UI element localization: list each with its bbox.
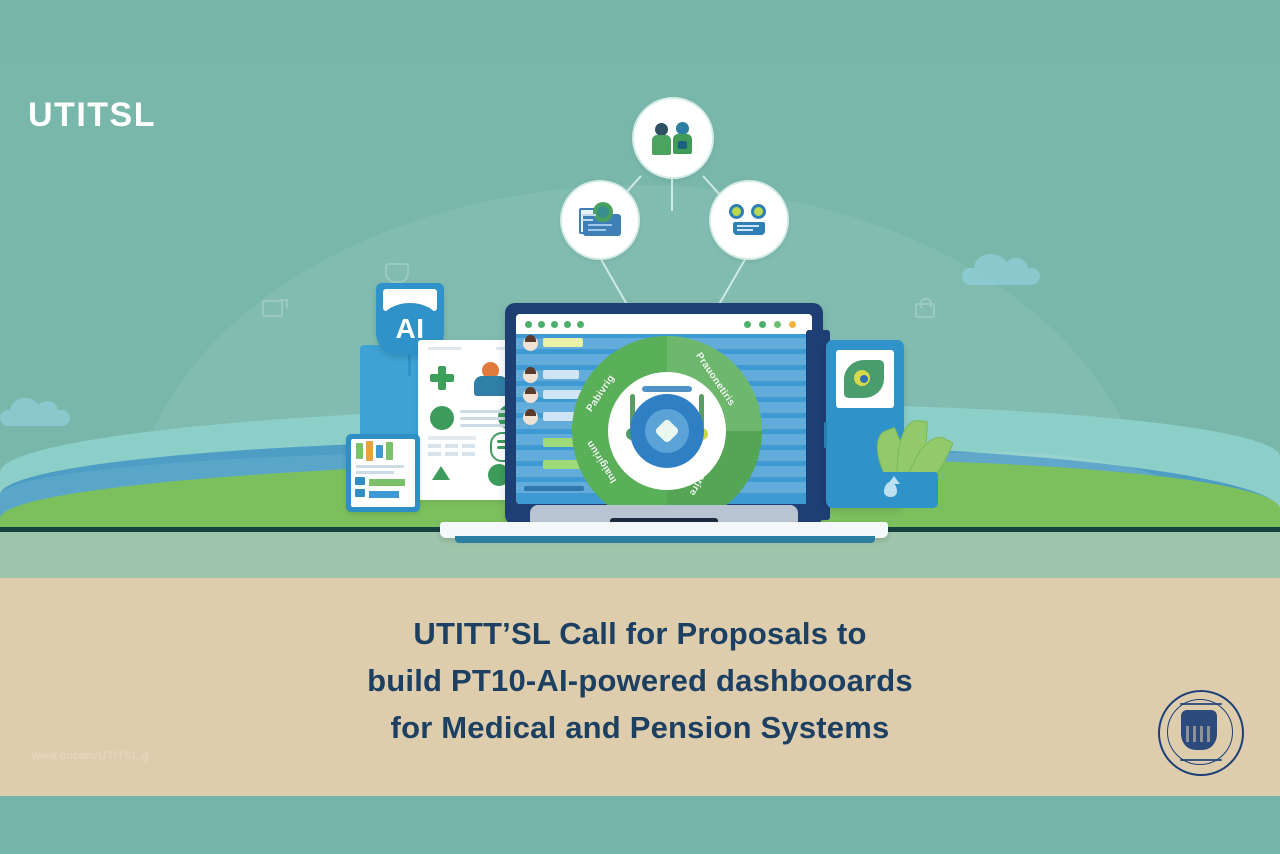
chrome-dot-right-4[interactable] <box>789 321 796 328</box>
chrome-dot-right-1[interactable] <box>744 321 751 328</box>
faint-shield-icon <box>385 263 409 283</box>
watermark-url: www.oncom/UTITSL.g <box>32 750 149 762</box>
chrome-dot-right-2[interactable] <box>759 321 766 328</box>
headline-line-3: for Medical and Pension Systems <box>0 704 1280 751</box>
chrome-dot-left-5[interactable] <box>577 321 584 328</box>
chrome-dot-left-4[interactable] <box>564 321 571 328</box>
hub-arm-top <box>642 386 692 392</box>
diagram-center-hub <box>608 372 726 490</box>
headline: UTITT’SL Call for Proposals to build PT1… <box>0 610 1280 751</box>
phone-screen <box>836 350 894 408</box>
illustration-scene: AI <box>0 0 1280 578</box>
diagram-core <box>630 394 704 468</box>
medical-staff-people-icon <box>651 121 695 155</box>
list-avatar <box>523 388 538 403</box>
chart-blob-1 <box>430 406 454 430</box>
scene-top-band <box>0 0 1280 60</box>
chrome-dot-left-2[interactable] <box>538 321 545 328</box>
chrome-dot-right-3[interactable] <box>774 321 781 328</box>
connector-line-center <box>671 175 673 211</box>
browser-chrome-bar <box>516 314 812 334</box>
list-avatar <box>523 336 538 351</box>
data-network-icon <box>729 202 769 238</box>
faint-lock-icon <box>915 303 935 318</box>
water-drop-icon <box>884 482 897 497</box>
phone-globe-core <box>860 375 868 383</box>
government-emblem <box>1158 690 1244 776</box>
title-banner: UTITT’SL Call for Proposals to build PT1… <box>0 578 1280 796</box>
card-mini-table <box>428 436 478 462</box>
ai-badge-label: AI <box>396 315 425 343</box>
node-medical-staff[interactable] <box>632 97 714 179</box>
faint-screen-icon <box>262 300 283 317</box>
medical-cross-icon <box>430 366 454 390</box>
headline-line-2: build PT10-AI-powered dashbooards <box>0 657 1280 704</box>
list-avatar <box>523 368 538 383</box>
node-analytics[interactable] <box>560 180 640 260</box>
circular-process-diagram: Pabivrig Prauonetiris Inaigiriun Quirint… <box>572 336 762 526</box>
utitsl-logo: UTITSL <box>28 96 156 135</box>
cloud-icon-right <box>962 268 1040 285</box>
phone-side-button[interactable] <box>824 422 827 448</box>
card-text-line <box>460 424 510 427</box>
computer-analytics-icon <box>577 202 623 238</box>
poster-canvas: AI <box>0 0 1280 854</box>
card-triangle-icon <box>432 466 450 480</box>
chrome-dot-left-1[interactable] <box>525 321 532 328</box>
tablet-report-card <box>346 434 420 512</box>
card-text-line <box>460 417 506 420</box>
list-avatar <box>523 410 538 425</box>
potted-plant-pot <box>872 472 938 508</box>
node-data-network[interactable] <box>709 180 789 260</box>
footer-strip <box>0 796 1280 854</box>
tablet-screen <box>351 439 415 507</box>
laptop-foot <box>455 536 875 543</box>
chrome-dot-left-3[interactable] <box>551 321 558 328</box>
cloud-icon-left <box>0 410 70 426</box>
ai-badge-stem <box>408 352 411 376</box>
headline-line-1: UTITT’SL Call for Proposals to <box>0 610 1280 657</box>
